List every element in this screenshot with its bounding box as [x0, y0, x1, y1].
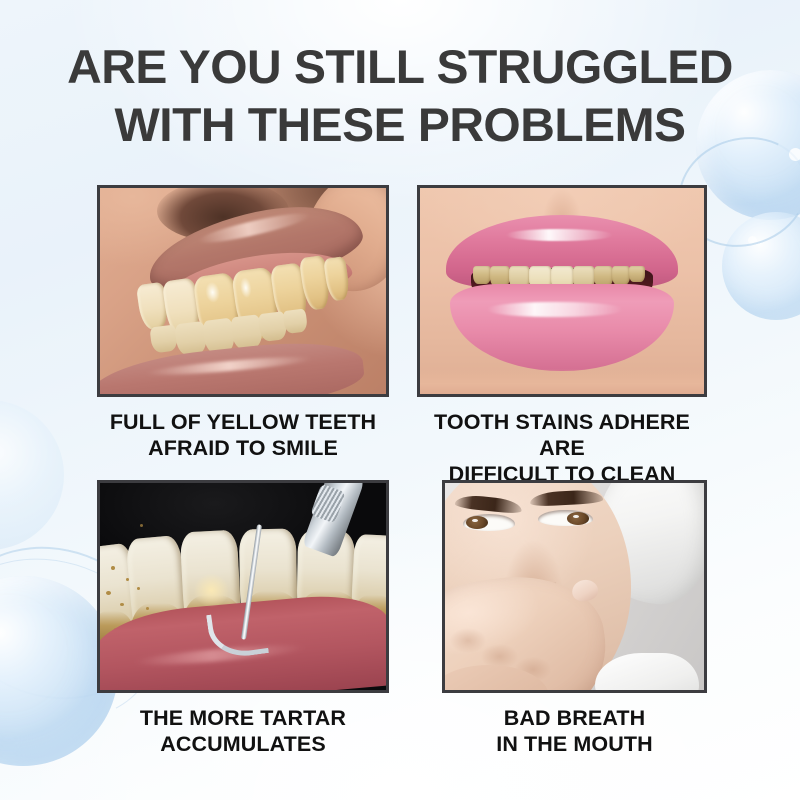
problem-image-tooth-stains — [417, 185, 707, 397]
problem-caption-bad-breath: BAD BREATH IN THE MOUTH — [442, 705, 707, 757]
problem-card-tooth-stains: TOOTH STAINS ADHERE ARE DIFFICULT TO CLE… — [417, 185, 707, 397]
problem-caption-tartar: THE MORE TARTAR ACCUMULATES — [97, 705, 389, 757]
problem-image-yellow-teeth — [97, 185, 389, 397]
problem-card-bad-breath: BAD BREATH IN THE MOUTH — [442, 480, 707, 693]
problem-card-yellow-teeth: FULL OF YELLOW TEETH AFRAID TO SMILE — [97, 185, 389, 397]
promotional-poster: ARE YOU STILL STRUGGLED WITH THESE PROBL… — [0, 0, 800, 800]
problem-caption-yellow-teeth: FULL OF YELLOW TEETH AFRAID TO SMILE — [97, 409, 389, 461]
decorative-bubble-top-right-small — [722, 212, 800, 320]
problem-image-bad-breath — [442, 480, 707, 693]
page-title: ARE YOU STILL STRUGGLED WITH THESE PROBL… — [0, 38, 800, 154]
problem-image-tartar — [97, 480, 389, 693]
problem-card-tartar: THE MORE TARTAR ACCUMULATES — [97, 480, 389, 693]
problem-caption-tooth-stains: TOOTH STAINS ADHERE ARE DIFFICULT TO CLE… — [417, 409, 707, 487]
decorative-bubble-left-middle — [0, 400, 64, 550]
